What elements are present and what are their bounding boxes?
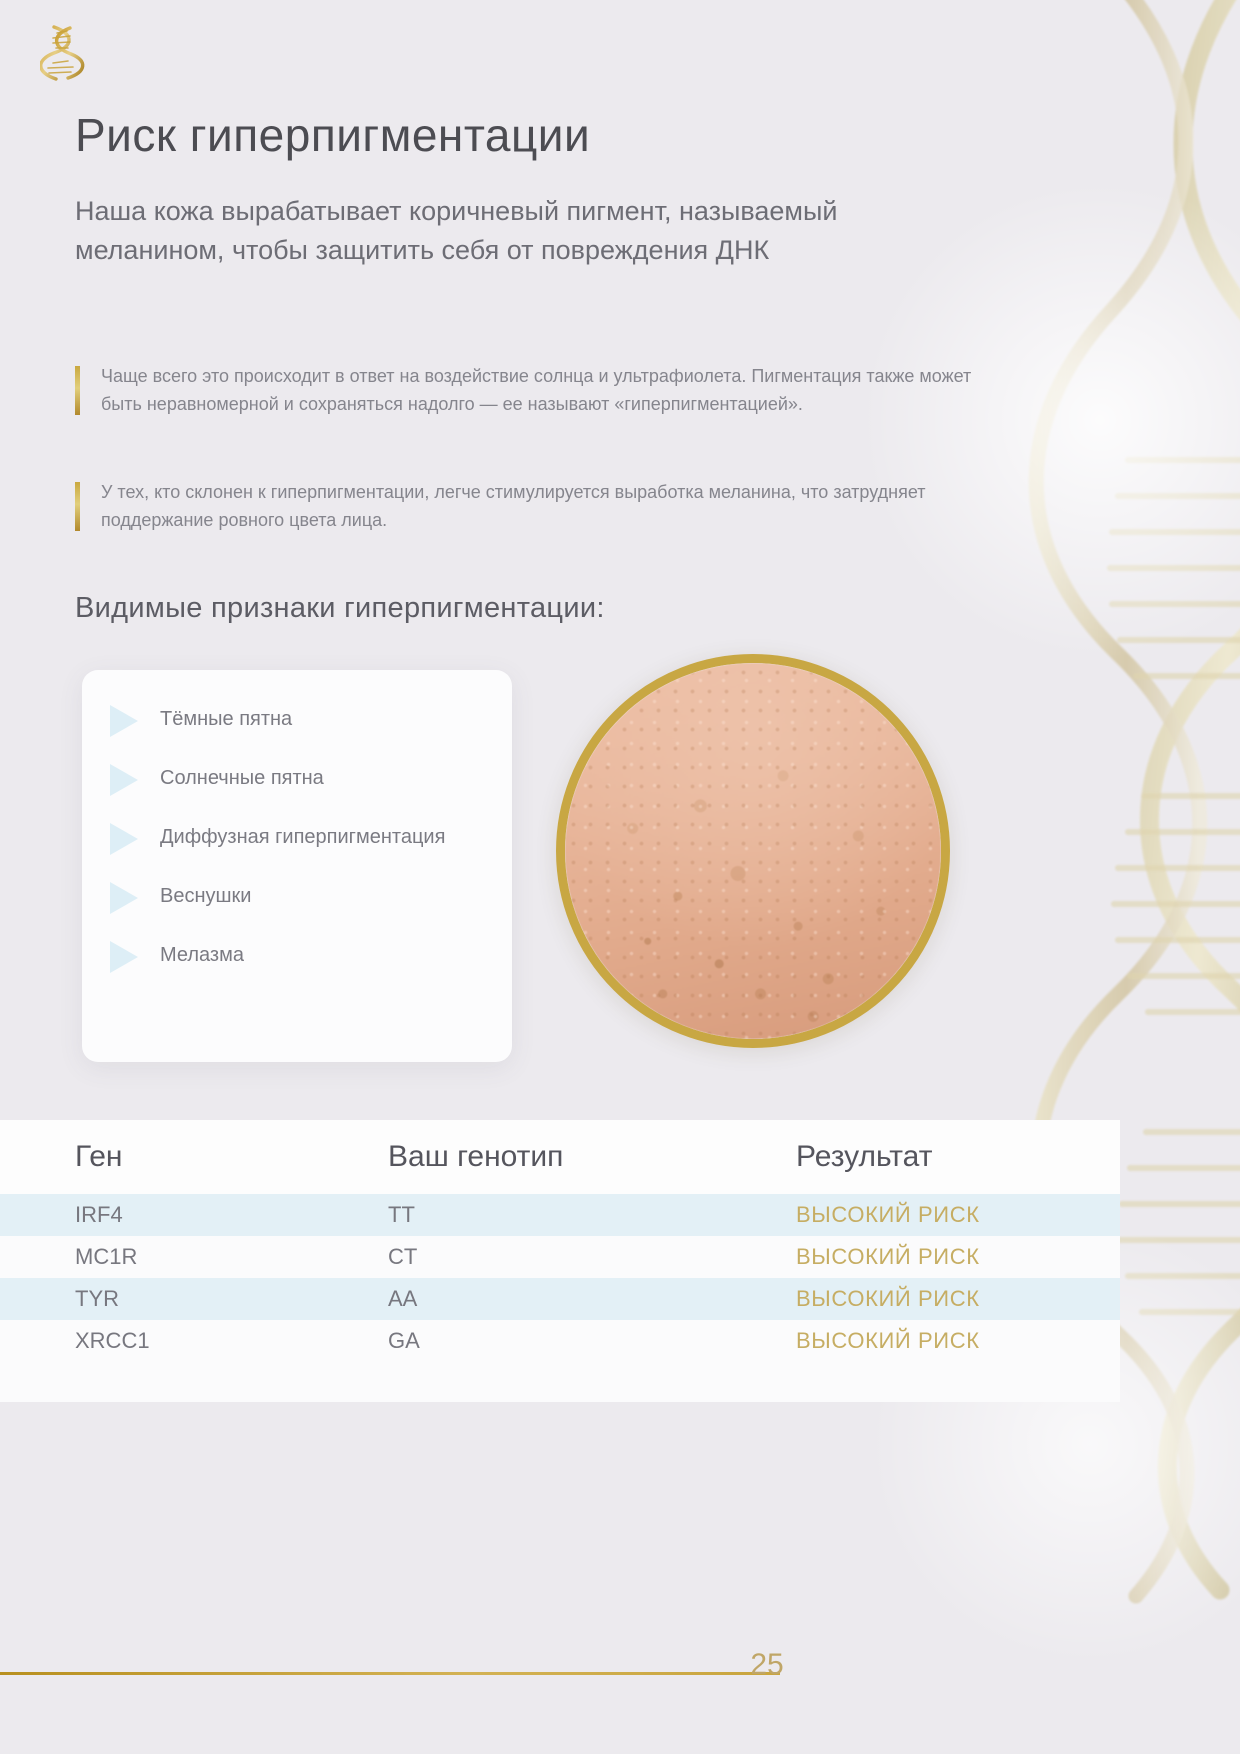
cell-genotype: GA: [388, 1328, 796, 1354]
table-header-row: Ген Ваш генотип Результат: [0, 1120, 1120, 1194]
sign-label: Тёмные пятна: [160, 704, 292, 735]
cell-gene: IRF4: [75, 1202, 388, 1228]
report-page: Риск гиперпигментации Наша кожа вырабаты…: [0, 0, 1240, 1754]
column-header-gene: Ген: [75, 1140, 388, 1174]
triangle-bullet-icon: [110, 764, 138, 796]
sign-label: Диффузная гиперпигментация: [160, 822, 445, 853]
callout-block-1: Чаще всего это происходит в ответ на воз…: [75, 362, 975, 419]
page-number: 25: [737, 1648, 797, 1682]
visible-signs-heading: Видимые признаки гиперпигментации:: [75, 592, 605, 625]
cell-genotype: AA: [388, 1286, 796, 1312]
skin-photo: [556, 654, 950, 1048]
list-item: Веснушки: [110, 881, 484, 914]
list-item: Тёмные пятна: [110, 704, 484, 737]
table-bottom-spacer: [0, 1362, 1120, 1402]
sign-label: Солнечные пятна: [160, 763, 324, 794]
cell-result: ВЫСОКИЙ РИСК: [796, 1202, 1120, 1228]
list-item: Солнечные пятна: [110, 763, 484, 796]
table-row: MC1R CT ВЫСОКИЙ РИСК: [0, 1236, 1120, 1278]
cell-result: ВЫСОКИЙ РИСК: [796, 1286, 1120, 1312]
list-item: Диффузная гиперпигментация: [110, 822, 484, 855]
cell-genotype: TT: [388, 1202, 796, 1228]
callout-block-2: У тех, кто склонен к гиперпигментации, л…: [75, 478, 955, 535]
triangle-bullet-icon: [110, 823, 138, 855]
table-row: IRF4 TT ВЫСОКИЙ РИСК: [0, 1194, 1120, 1236]
sign-label: Веснушки: [160, 881, 251, 912]
cell-result: ВЫСОКИЙ РИСК: [796, 1328, 1120, 1354]
skin-photo-speckle: [565, 663, 941, 1039]
column-header-genotype: Ваш генотип: [388, 1140, 796, 1174]
cell-genotype: CT: [388, 1244, 796, 1270]
dna-helix-icon: [40, 22, 86, 84]
page-title: Риск гиперпигментации: [75, 108, 590, 162]
intro-paragraph: Наша кожа вырабатывает коричневый пигмен…: [75, 192, 925, 271]
list-item: Мелазма: [110, 940, 484, 973]
visible-signs-card: Тёмные пятна Солнечные пятна Диффузная г…: [82, 670, 512, 1062]
triangle-bullet-icon: [110, 941, 138, 973]
cell-gene: MC1R: [75, 1244, 388, 1270]
column-header-result: Результат: [796, 1140, 1120, 1174]
table-row: XRCC1 GA ВЫСОКИЙ РИСК: [0, 1320, 1120, 1362]
sign-label: Мелазма: [160, 940, 244, 971]
triangle-bullet-icon: [110, 705, 138, 737]
triangle-bullet-icon: [110, 882, 138, 914]
cell-result: ВЫСОКИЙ РИСК: [796, 1244, 1120, 1270]
footer-rule: [0, 1672, 780, 1675]
gene-results-table: Ген Ваш генотип Результат IRF4 TT ВЫСОКИ…: [0, 1120, 1120, 1402]
cell-gene: TYR: [75, 1286, 388, 1312]
skin-photo-texture: [565, 663, 941, 1039]
cell-gene: XRCC1: [75, 1328, 388, 1354]
table-row: TYR AA ВЫСОКИЙ РИСК: [0, 1278, 1120, 1320]
